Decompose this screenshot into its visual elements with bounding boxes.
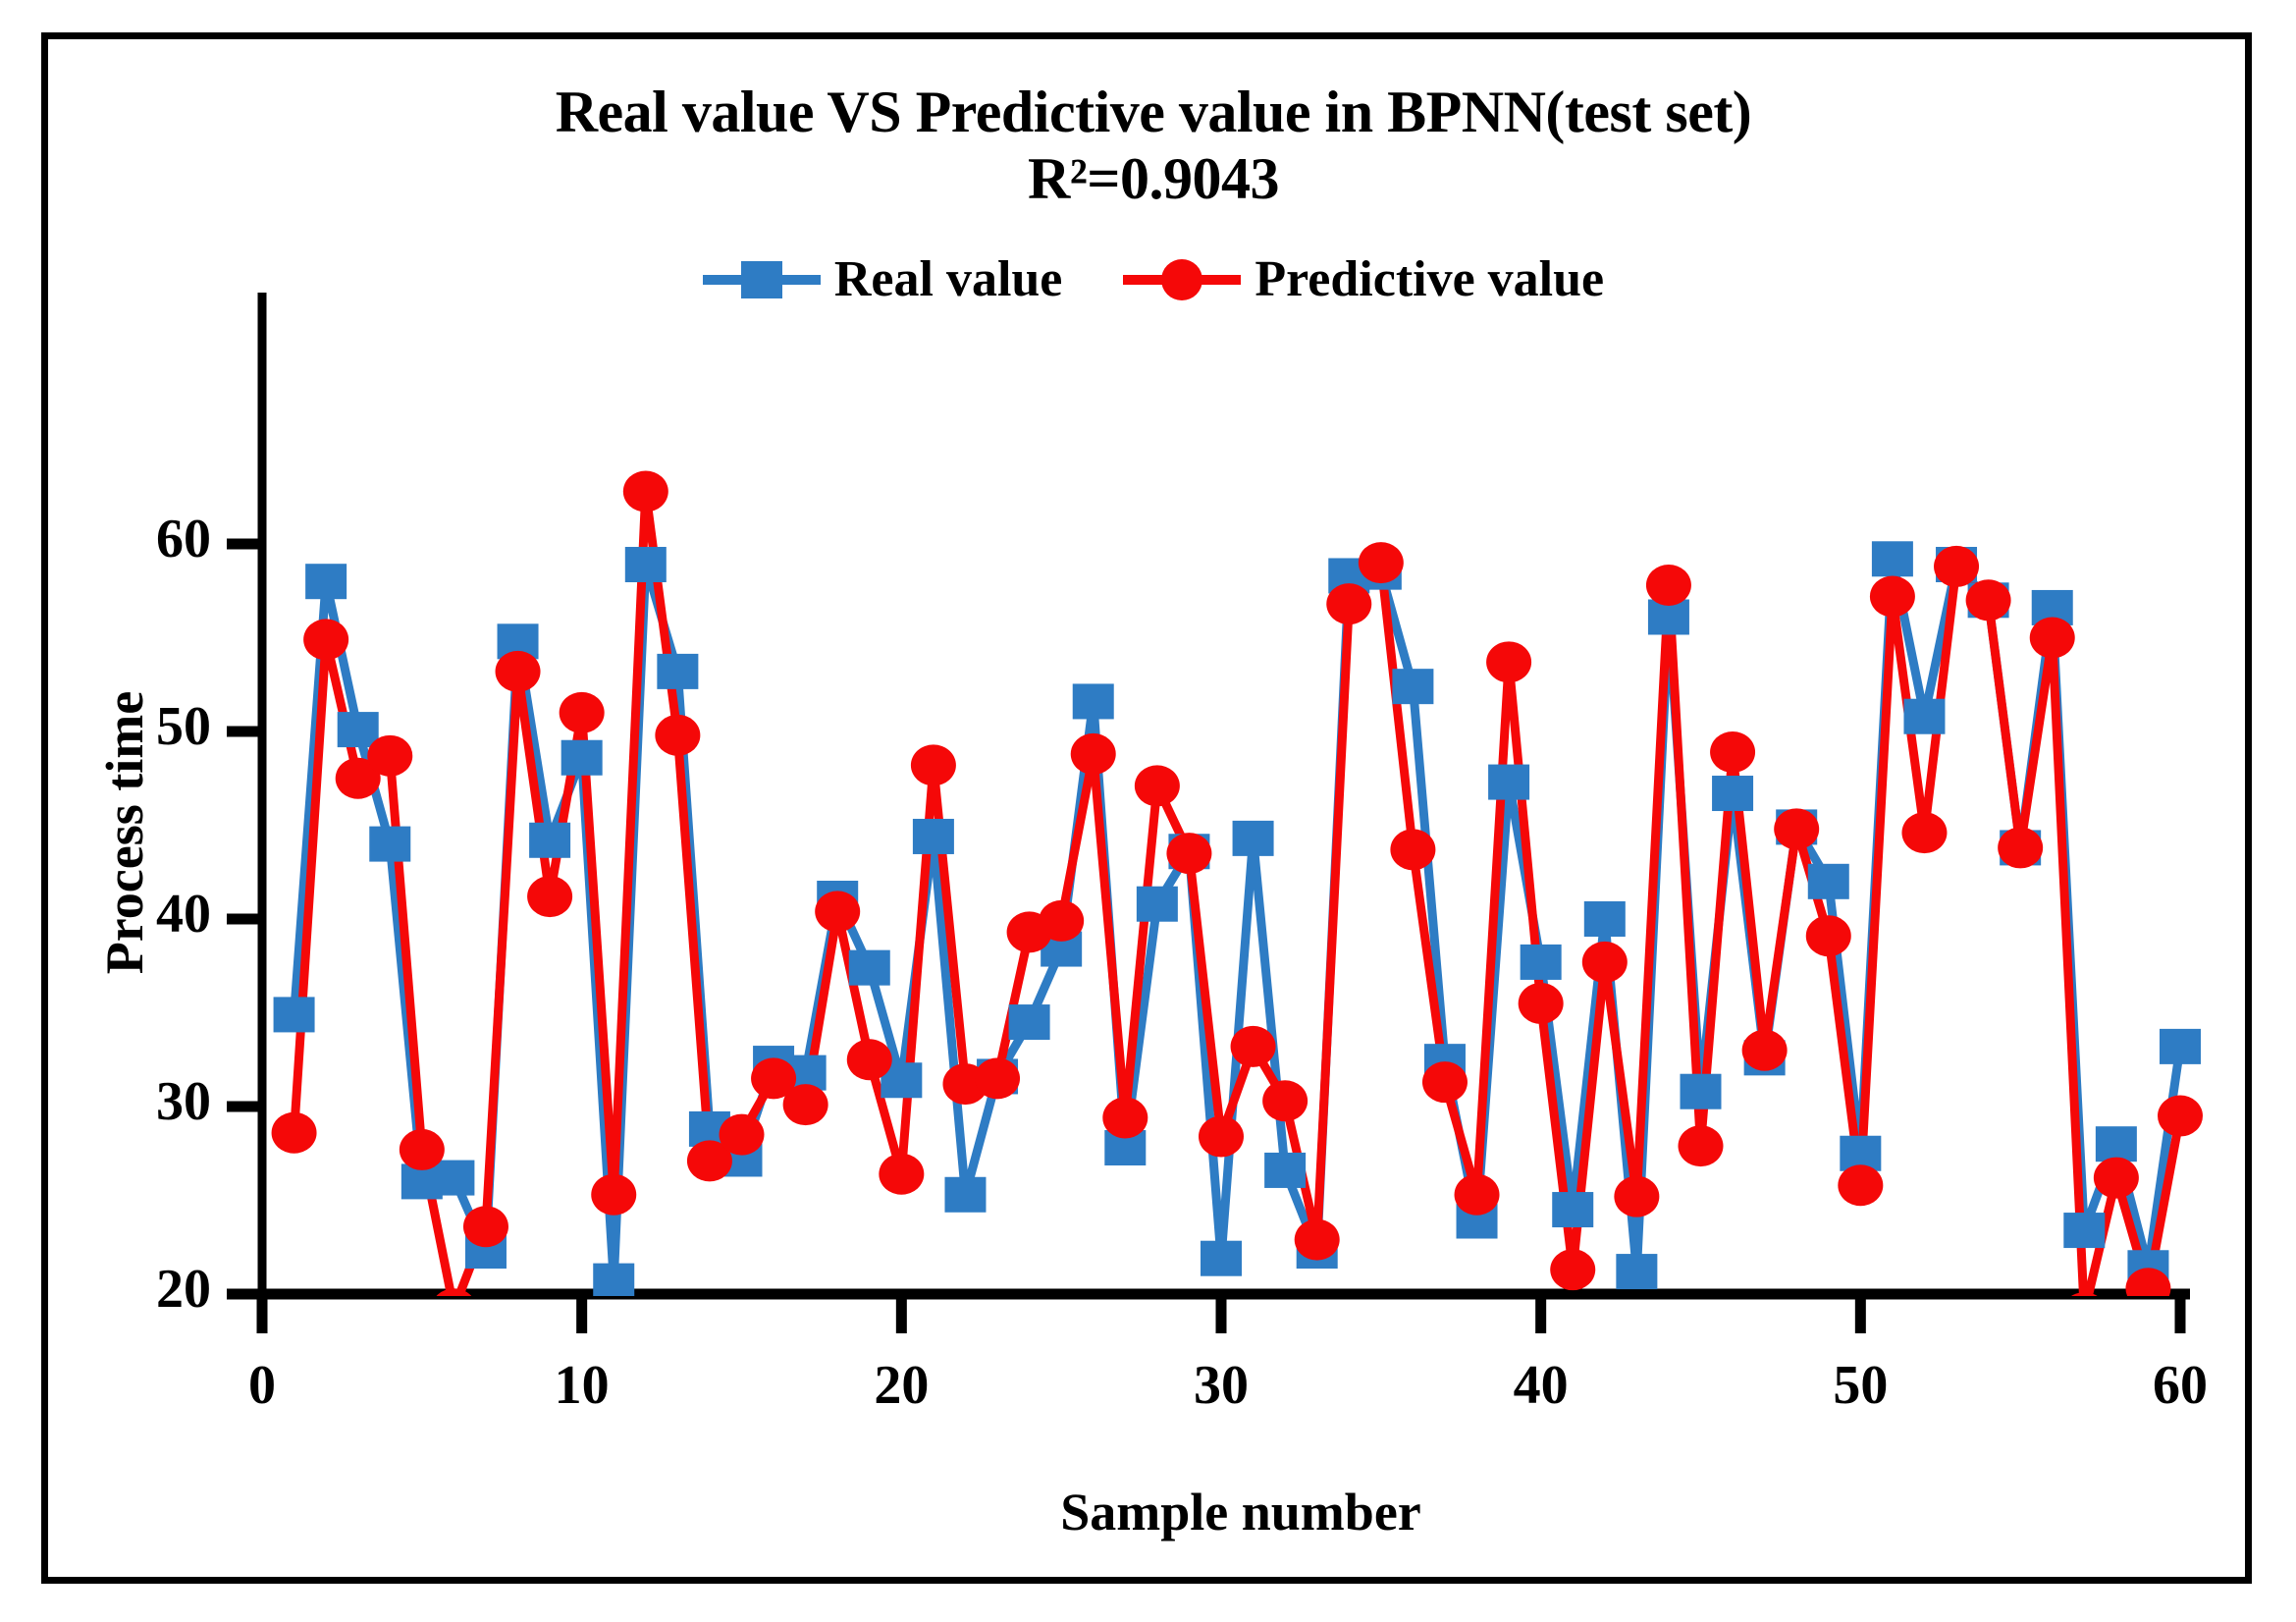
axes-layer: [227, 293, 2190, 1333]
data-point-marker: [367, 735, 412, 777]
data-point-marker: [400, 1129, 445, 1170]
data-point-marker: [1872, 541, 1913, 576]
data-point-marker: [657, 654, 698, 689]
data-point-marker: [783, 1084, 828, 1125]
data-point-marker: [975, 1057, 1020, 1099]
data-point-marker: [527, 876, 572, 917]
data-point-marker: [2063, 1213, 2105, 1248]
y-axis-tick-label: 30: [156, 1071, 211, 1132]
series-line-real-value: [294, 559, 2180, 1280]
data-point-marker: [1679, 1125, 1724, 1166]
data-point-marker: [369, 827, 410, 862]
data-point-marker: [591, 1174, 636, 1216]
data-point-marker: [815, 891, 860, 932]
data-point-marker: [431, 1288, 476, 1329]
data-point-marker: [1455, 1174, 1500, 1216]
data-point-marker: [623, 471, 668, 513]
y-axis-tick-label: 40: [156, 884, 211, 945]
plot-area: 20304050600102030405060Sample numberProc…: [48, 39, 2259, 1591]
data-point-marker: [1808, 864, 1849, 899]
data-point-marker: [561, 740, 603, 776]
data-point-marker: [1519, 983, 1564, 1024]
data-point-marker: [1135, 765, 1180, 806]
data-point-marker: [944, 1177, 986, 1213]
data-point-marker: [1233, 821, 1274, 856]
data-point-marker: [1264, 1153, 1306, 1188]
data-point-marker: [1009, 1004, 1050, 1040]
data-point-marker: [1903, 699, 1945, 734]
data-point-marker: [913, 819, 954, 854]
data-point-marker: [1742, 1030, 1788, 1071]
data-point-marker: [1550, 1249, 1595, 1290]
data-point-marker: [1262, 1080, 1308, 1121]
data-point-marker: [1231, 1026, 1276, 1067]
data-point-marker: [1934, 546, 1979, 587]
data-point-marker: [1201, 1241, 1242, 1276]
data-point-marker: [303, 619, 348, 660]
data-point-marker: [1616, 1254, 1657, 1289]
data-point-marker: [1488, 765, 1529, 800]
data-point-marker: [593, 1264, 634, 1299]
x-axis-tick-label: 10: [555, 1355, 610, 1416]
data-point-marker: [529, 823, 570, 858]
data-point-marker: [849, 950, 890, 986]
data-point-marker: [1614, 1176, 1659, 1217]
x-axis-tick-label: 40: [1514, 1355, 1569, 1416]
data-point-marker: [625, 547, 667, 582]
data-point-marker: [2096, 1126, 2137, 1162]
data-point-marker: [1422, 1061, 1468, 1103]
data-point-marker: [1326, 583, 1371, 624]
y-axis-tick-label: 60: [156, 509, 211, 569]
data-point-marker: [847, 1039, 892, 1080]
x-axis-tick-label: 50: [1833, 1355, 1888, 1416]
data-point-marker: [560, 692, 605, 733]
x-axis-title: Sample number: [1060, 1483, 1421, 1541]
data-point-marker: [879, 1154, 924, 1195]
series-markers-predictive-value: [272, 471, 2203, 1334]
data-point-marker: [1392, 669, 1433, 704]
data-point-marker: [1712, 776, 1753, 811]
data-point-marker: [655, 715, 700, 756]
figure-frame: Real value VS Predictive value in BPNN(t…: [41, 32, 2252, 1584]
y-axis-tick-label: 20: [156, 1259, 211, 1320]
x-axis-tick-label: 20: [874, 1355, 929, 1416]
data-point-marker: [1870, 575, 1915, 617]
data-point-marker: [1073, 683, 1114, 719]
data-point-marker: [1486, 641, 1531, 682]
data-point-marker: [1166, 833, 1211, 874]
data-point-marker: [433, 1161, 474, 1196]
x-axis-tick-label: 0: [248, 1355, 276, 1416]
data-point-marker: [1806, 915, 1851, 956]
data-point-marker: [1838, 1164, 1883, 1206]
data-point-marker: [1102, 1097, 1148, 1138]
x-axis-tick-label: 60: [2153, 1355, 2208, 1416]
data-point-marker: [2125, 1268, 2170, 1309]
data-point-marker: [1521, 945, 1562, 980]
data-point-marker: [2094, 1158, 2139, 1199]
data-point-marker: [720, 1114, 765, 1156]
data-point-marker: [1199, 1116, 1244, 1158]
data-point-marker: [305, 564, 347, 599]
data-point-marker: [1552, 1192, 1593, 1227]
data-point-marker: [1071, 733, 1116, 775]
data-point-marker: [1646, 565, 1691, 606]
data-point-marker: [2030, 618, 2075, 659]
data-point-marker: [274, 997, 315, 1032]
data-point-marker: [463, 1206, 508, 1247]
series-clip-group: [272, 471, 2203, 1334]
series-layer: [272, 471, 2203, 1334]
data-point-marker: [2160, 1029, 2201, 1064]
data-point-marker: [1390, 829, 1435, 870]
chart-root: Real value VS Predictive value in BPNN(t…: [48, 39, 2259, 1591]
data-point-marker: [2158, 1096, 2203, 1137]
x-axis-tick-label: 30: [1194, 1355, 1249, 1416]
data-point-marker: [338, 712, 379, 747]
data-point-marker: [1966, 579, 2011, 621]
data-point-marker: [1774, 808, 1819, 849]
data-point-marker: [1901, 812, 1947, 853]
data-point-marker: [1295, 1219, 1340, 1261]
data-point-marker: [1998, 827, 2043, 868]
data-point-marker: [1582, 942, 1628, 983]
y-axis-tick-label: 50: [156, 696, 211, 757]
data-point-marker: [1359, 542, 1404, 583]
data-point-marker: [496, 651, 541, 692]
data-point-marker: [272, 1112, 317, 1154]
data-point-marker: [1137, 887, 1178, 922]
data-point-marker: [911, 744, 956, 785]
y-axis-title: Process time: [95, 691, 154, 974]
data-point-marker: [1710, 731, 1755, 773]
data-point-marker: [1681, 1074, 1722, 1109]
data-point-marker: [1039, 900, 1084, 942]
data-point-marker: [1584, 901, 1626, 937]
